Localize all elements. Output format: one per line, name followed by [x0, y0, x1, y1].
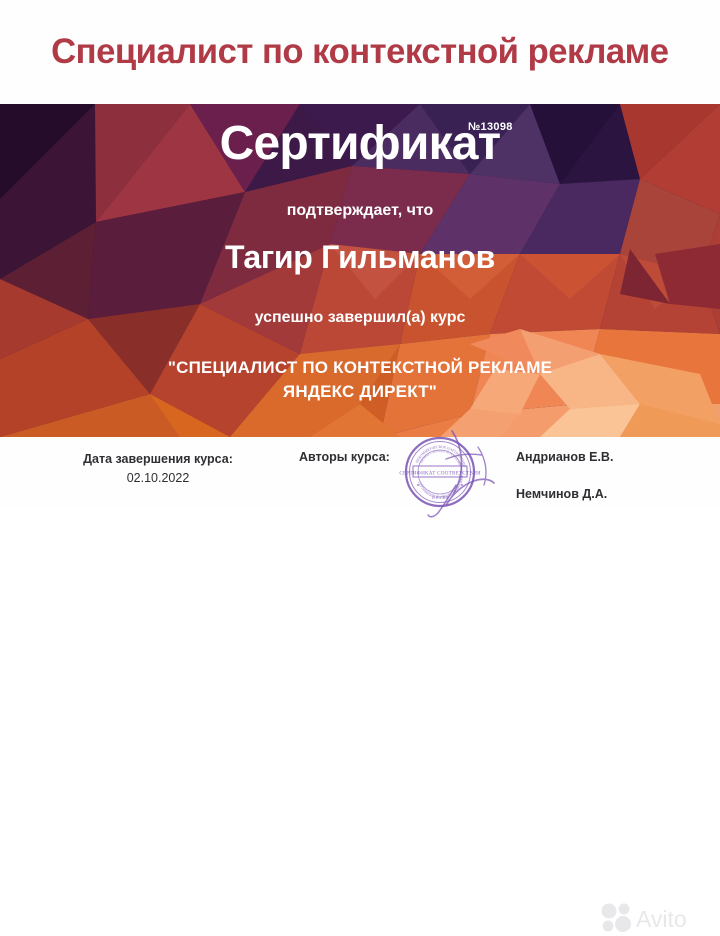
certificate-text-layer: №13098 Сертификат подтверждает, что Таги… [0, 104, 720, 437]
completion-date-label: Дата завершения курса: [48, 450, 268, 469]
completion-text: успешно завершил(а) курс [0, 309, 720, 327]
authors-label: Авторы курса: [299, 450, 390, 464]
svg-text:СЕРТИФИЦИРОВАННЫЙ СПЕЦИАЛИСТ: СЕРТИФИЦИРОВАННЫЙ СПЕЦИАЛИСТ [417, 474, 464, 499]
author-name-1: Андрианов Е.В. [516, 450, 613, 464]
svg-text:НЕКОММЕРЧЕСКОЕ ПАРТНЕРСТВО: НЕКОММЕРЧЕСКОЕ ПАРТНЕРСТВО [415, 445, 467, 468]
confirms-text: подтверждает, что [0, 202, 720, 220]
avito-watermark: Avito [598, 902, 710, 936]
certificate-body: №13098 Сертификат подтверждает, что Таги… [0, 104, 720, 437]
recipient-name: Тагир Гильманов [0, 239, 720, 276]
course-title-line-2: ЯНДЕКС ДИРЕКТ" [0, 380, 720, 404]
course-title-line-1: "СПЕЦИАЛИСТ ПО КОНТЕКСТНОЙ РЕКЛАМЕ [0, 356, 720, 380]
header-band: Специалист по контекстной рекламе [0, 0, 720, 104]
stamp-seal: СЕРТИФИКАТ СООТВЕТСТВИЯ НЕКОММЕРЧЕСКОЕ П… [399, 438, 481, 506]
page-title: Специалист по контекстной рекламе [51, 32, 668, 72]
certificate-heading: Сертификат [0, 116, 720, 171]
certificate-page: Специалист по контекстной рекламе [0, 0, 720, 508]
footer-band: Дата завершения курса: 02.10.2022 Авторы… [0, 437, 720, 508]
avito-wordmark: Avito [636, 906, 687, 932]
completion-date-value: 02.10.2022 [48, 469, 268, 488]
avito-logo-icon [602, 904, 632, 933]
svg-text:РОССИЯ: РОССИЯ [432, 495, 448, 500]
official-stamp: СЕРТИФИКАТ СООТВЕТСТВИЯ НЕКОММЕРЧЕСКОЕ П… [390, 425, 520, 520]
svg-text:СЕРТИФИКАТ СООТВЕТСТВИЯ: СЕРТИФИКАТ СООТВЕТСТВИЯ [399, 470, 481, 476]
svg-text:ПРОФЕССИОНАЛОВ РЕКЛАМЫ: ПРОФЕССИОНАЛОВ РЕКЛАМЫ [419, 449, 462, 467]
course-title: "СПЕЦИАЛИСТ ПО КОНТЕКСТНОЙ РЕКЛАМЕ ЯНДЕК… [0, 356, 720, 404]
completion-date-block: Дата завершения курса: 02.10.2022 [48, 450, 268, 488]
author-name-2: Немчинов Д.А. [516, 487, 607, 501]
signature-mark [428, 431, 494, 517]
